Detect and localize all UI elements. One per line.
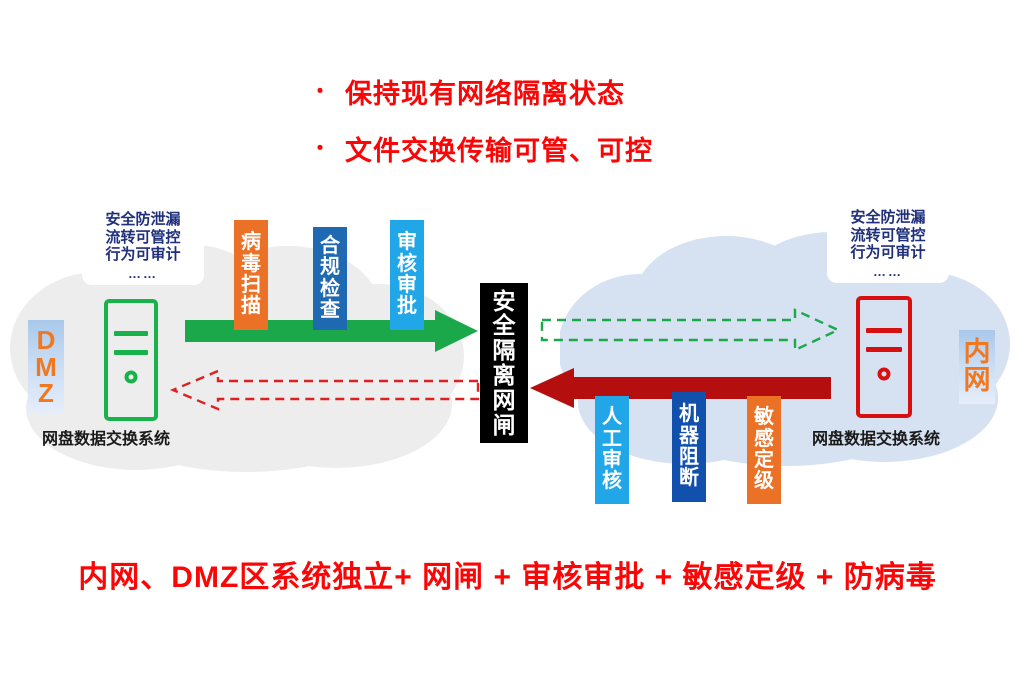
left-callout-ellipsis: …… bbox=[91, 266, 195, 281]
right-callout-box: 安全防泄漏 流转可管控 行为可审计 …… bbox=[827, 203, 949, 283]
gateway-char: 离 bbox=[493, 363, 516, 388]
bullet-dot-icon: ・ bbox=[310, 139, 331, 159]
right-callout-line-1: 安全防泄漏 bbox=[836, 209, 940, 227]
tag-char: 敏 bbox=[754, 407, 774, 428]
tag-char: 核 bbox=[602, 471, 622, 492]
right-system-caption: 网盘数据交换系统 bbox=[812, 425, 940, 449]
tag-char: 合 bbox=[320, 236, 340, 257]
tag-char: 审 bbox=[602, 450, 622, 471]
zone-label-dmz: D M Z bbox=[28, 320, 64, 414]
left-system-caption: 网盘数据交换系统 bbox=[42, 425, 170, 449]
tag-char: 器 bbox=[679, 426, 699, 447]
headline-bullet-2: ・ 文件交换传输可管、可控 bbox=[310, 129, 830, 168]
gateway-char: 安 bbox=[493, 289, 516, 314]
tag-char: 描 bbox=[241, 296, 261, 317]
tag-char: 工 bbox=[602, 429, 622, 450]
security-gateway-box[interactable]: 安 全 隔 离 网 闸 bbox=[480, 283, 528, 443]
headline-bullet-1: ・ 保持现有网络隔离状态 bbox=[310, 72, 830, 111]
server-chassis bbox=[104, 299, 158, 421]
outbound-tag-audit-approval[interactable]: 审 核 审 批 bbox=[390, 220, 424, 330]
gateway-char: 全 bbox=[493, 313, 516, 338]
left-callout-line-1: 安全防泄漏 bbox=[91, 211, 195, 229]
headline-bullet-2-text: 文件交换传输可管、可控 bbox=[345, 129, 653, 168]
right-callout-line-3: 行为可审计 bbox=[836, 244, 940, 262]
zone-dmz-char-3: Z bbox=[38, 380, 54, 407]
tag-char: 毒 bbox=[241, 254, 261, 275]
right-server-icon bbox=[856, 296, 912, 418]
gateway-char: 闸 bbox=[493, 413, 516, 438]
zone-label-intranet: 内 网 bbox=[959, 330, 995, 404]
tag-char: 查 bbox=[320, 300, 340, 321]
tag-char: 核 bbox=[397, 254, 417, 275]
inbound-tag-manual-review[interactable]: 人 工 审 核 bbox=[595, 396, 629, 504]
zone-intranet-char-2: 网 bbox=[964, 367, 991, 395]
right-callout-ellipsis: …… bbox=[836, 264, 940, 279]
server-chassis bbox=[856, 296, 912, 418]
bullet-dot-icon: ・ bbox=[310, 82, 331, 102]
tag-char: 检 bbox=[320, 279, 340, 300]
zone-intranet-char-1: 内 bbox=[964, 339, 991, 367]
diagram-canvas: ・ 保持现有网络隔离状态 ・ 文件交换传输可管、可控 bbox=[0, 0, 1015, 675]
tag-char: 机 bbox=[679, 404, 699, 425]
server-power-indicator-icon bbox=[125, 371, 138, 384]
inbound-tag-machine-block[interactable]: 机 器 阻 断 bbox=[672, 392, 706, 502]
outbound-tag-compliance-check[interactable]: 合 规 检 查 bbox=[313, 227, 347, 330]
tag-char: 批 bbox=[397, 296, 417, 317]
inbound-tag-sensitivity-grading[interactable]: 敏 感 定 级 bbox=[747, 396, 781, 504]
right-forward-flow-arrow bbox=[540, 309, 840, 351]
right-callout-line-2: 流转可管控 bbox=[836, 227, 940, 245]
server-power-indicator-icon bbox=[878, 368, 891, 381]
server-slot-bar-2 bbox=[114, 350, 149, 355]
summary-statement: 内网、DMZ区系统独立+ 网闸 + 审核审批 + 敏感定级 + 防病毒 bbox=[0, 552, 1015, 596]
outbound-tag-virus-scan[interactable]: 病 毒 扫 描 bbox=[234, 220, 268, 330]
tag-char: 审 bbox=[397, 275, 417, 296]
tag-char: 病 bbox=[241, 232, 261, 253]
headline-bullet-list: ・ 保持现有网络隔离状态 ・ 文件交换传输可管、可控 bbox=[310, 72, 830, 186]
server-slot-bar-2 bbox=[866, 347, 902, 352]
tag-char: 审 bbox=[397, 232, 417, 253]
tag-char: 人 bbox=[602, 407, 622, 428]
zone-dmz-char-2: M bbox=[35, 354, 57, 381]
left-server-icon bbox=[104, 299, 158, 421]
tag-char: 规 bbox=[320, 257, 340, 278]
tag-char: 扫 bbox=[241, 275, 261, 296]
server-slot-bar-1 bbox=[114, 331, 149, 336]
left-callout-line-3: 行为可审计 bbox=[91, 246, 195, 264]
left-callout-box: 安全防泄漏 流转可管控 行为可审计 …… bbox=[82, 205, 204, 285]
headline-bullet-1-text: 保持现有网络隔离状态 bbox=[345, 72, 625, 111]
zone-dmz-char-1: D bbox=[37, 327, 56, 354]
left-callout-line-2: 流转可管控 bbox=[91, 229, 195, 247]
gateway-char: 隔 bbox=[493, 338, 516, 363]
tag-char: 阻 bbox=[679, 447, 699, 468]
left-return-flow-arrow bbox=[170, 370, 480, 410]
server-slot-bar-1 bbox=[866, 328, 902, 333]
gateway-char: 网 bbox=[493, 388, 516, 413]
tag-char: 级 bbox=[754, 471, 774, 492]
tag-char: 感 bbox=[754, 429, 774, 450]
tag-char: 断 bbox=[679, 468, 699, 489]
tag-char: 定 bbox=[754, 450, 774, 471]
